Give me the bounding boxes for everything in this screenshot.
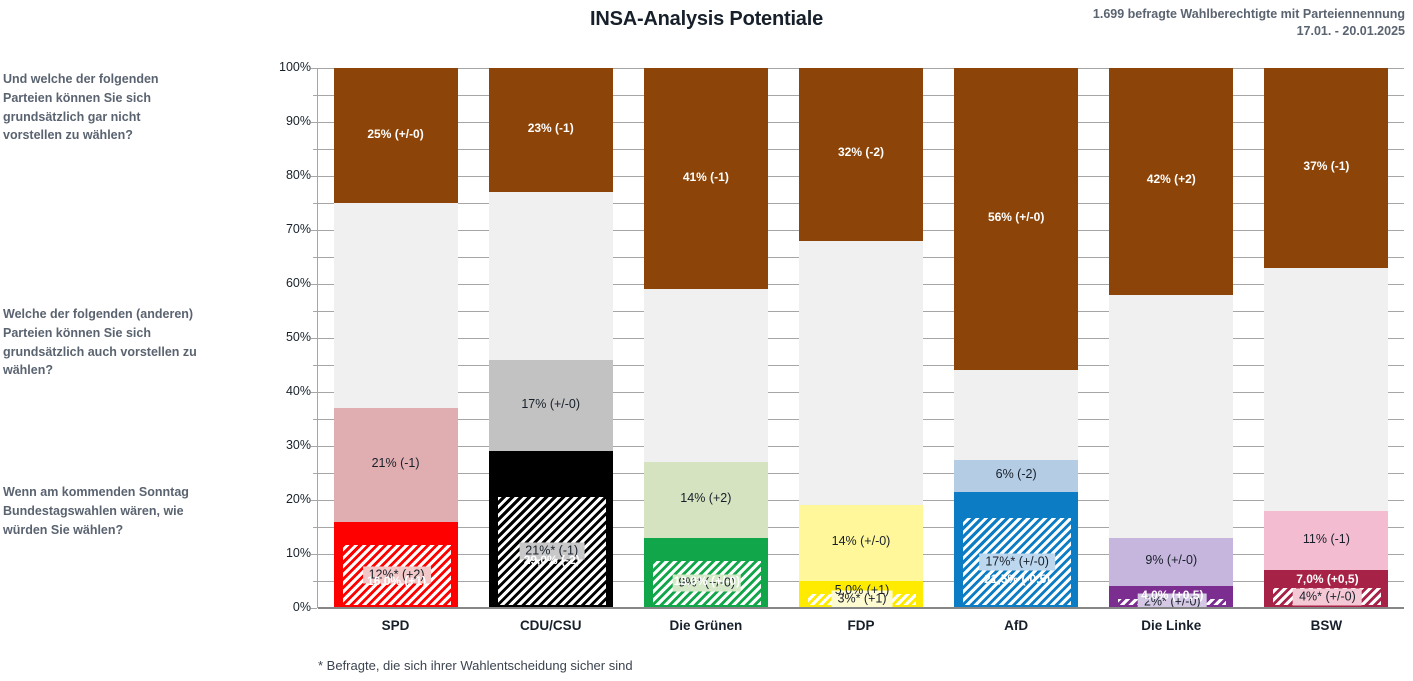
bar-segment-potential[interactable]: 21% (-1) xyxy=(334,408,458,521)
survey-meta: 1.699 befragte Wahlberechtigte mit Parte… xyxy=(1093,6,1405,40)
y-axis-tick-label: 30% xyxy=(265,438,311,452)
bar-segment-rest[interactable] xyxy=(1264,268,1388,511)
x-axis-line xyxy=(318,607,1404,609)
bar-subsegment-label: 4%* (+/-0) xyxy=(1293,588,1362,605)
y-axis-tick-label: 80% xyxy=(265,168,311,182)
bar-segment-base[interactable]: 4%* (+/-0)7,0% (+0,5) xyxy=(1264,570,1388,608)
y-axis-tickmark xyxy=(311,68,317,69)
y-axis-tickmark-minor xyxy=(313,311,317,312)
bar-group-die-gr-nen[interactable]: 9%* (+/-0)13,0% (+/-0)14% (+2)41% (-1) xyxy=(644,68,768,608)
y-axis-tick-label: 40% xyxy=(265,384,311,398)
bar-subsegment-sure-voters[interactable]: 9%* (+/-0) xyxy=(653,561,761,605)
bar-segment-label: 37% (-1) xyxy=(1264,159,1388,173)
x-axis-label-die-gr-nen: Die Grünen xyxy=(644,618,768,633)
y-axis-tick-label: 100% xyxy=(265,60,311,74)
bar-segment-base[interactable]: 17%* (+/-0)21,5% (-0,5) xyxy=(954,492,1078,608)
bar-subsegment-sure-voters[interactable]: 2%* (+/-0) xyxy=(1118,599,1226,605)
x-axis-label-fdp: FDP xyxy=(799,618,923,633)
y-axis-tickmark xyxy=(311,446,317,447)
y-axis-tick-label: 20% xyxy=(265,492,311,506)
y-axis-tickmark xyxy=(311,230,317,231)
bar-segment-label: 6% (-2) xyxy=(954,467,1078,481)
bar-subsegment-sure-voters[interactable]: 3%* (+1) xyxy=(808,594,916,605)
bar-segment-potential[interactable]: 6% (-2) xyxy=(954,460,1078,492)
bar-subsegment-sure-voters[interactable]: 4%* (+/-0) xyxy=(1273,588,1381,605)
y-axis-tickmark xyxy=(311,338,317,339)
bar-segment-label: 41% (-1) xyxy=(644,170,768,184)
bar-segment-exclusion[interactable]: 32% (-2) xyxy=(799,68,923,241)
bar-segment-potential[interactable]: 11% (-1) xyxy=(1264,511,1388,570)
bar-group-spd[interactable]: 12%* (+2)16,0% (+1)21% (-1)25% (+/-0) xyxy=(334,68,458,608)
bar-segment-rest[interactable] xyxy=(489,192,613,359)
bar-segment-rest[interactable] xyxy=(1109,295,1233,538)
bar-segment-label: 14% (+/-0) xyxy=(799,534,923,548)
y-axis-tickmark-minor xyxy=(313,527,317,528)
bar-segment-label: 56% (+/-0) xyxy=(954,210,1078,224)
bar-segment-label: 14% (+2) xyxy=(644,491,768,505)
y-axis-tick-label: 10% xyxy=(265,546,311,560)
y-axis-tickmark-minor xyxy=(313,473,317,474)
bar-segment-potential[interactable]: 17% (+/-0) xyxy=(489,360,613,452)
plot-area: 12%* (+2)16,0% (+1)21% (-1)25% (+/-0)21%… xyxy=(318,68,1404,608)
bar-segment-exclusion[interactable]: 23% (-1) xyxy=(489,68,613,192)
bar-segment-potential[interactable]: 14% (+2) xyxy=(644,462,768,538)
bar-segment-potential[interactable]: 14% (+/-0) xyxy=(799,505,923,581)
bar-subsegment-label: 21%* (-1) xyxy=(519,542,584,559)
y-axis-tickmark xyxy=(311,554,317,555)
bar-subsegment-label: 3%* (+1) xyxy=(832,591,893,608)
bar-segment-rest[interactable] xyxy=(799,241,923,506)
bar-segment-exclusion[interactable]: 41% (-1) xyxy=(644,68,768,289)
bar-subsegment-sure-voters[interactable]: 21%* (-1) xyxy=(498,497,606,605)
bar-subsegment-label: 12%* (+2) xyxy=(363,567,431,584)
bar-group-die-linke[interactable]: 2%* (+/-0)4,0% (+0,5)9% (+/-0)42% (+2) xyxy=(1109,68,1233,608)
bar-subsegment-label: 2%* (+/-0) xyxy=(1138,594,1207,609)
bar-subsegment-sure-voters[interactable]: 12%* (+2) xyxy=(343,545,451,605)
y-axis-tickmark xyxy=(311,122,317,123)
bar-segment-exclusion[interactable]: 37% (-1) xyxy=(1264,68,1388,268)
bar-segment-label: 21% (-1) xyxy=(334,456,458,470)
y-axis-tickmark-minor xyxy=(313,203,317,204)
y-axis-tick-label: 50% xyxy=(265,330,311,344)
bar-group-afd[interactable]: 17%* (+/-0)21,5% (-0,5)6% (-2)56% (+/-0) xyxy=(954,68,1078,608)
bar-segment-label: 17% (+/-0) xyxy=(489,397,613,411)
x-axis-label-spd: SPD xyxy=(334,618,458,633)
y-axis-tickmark-minor xyxy=(313,365,317,366)
y-axis-tickmark xyxy=(311,284,317,285)
bar-subsegment-label: 9%* (+/-0) xyxy=(673,575,742,592)
y-axis-tickmark-minor xyxy=(313,419,317,420)
bar-segment-rest[interactable] xyxy=(334,203,458,408)
bar-segment-potential[interactable]: 9% (+/-0) xyxy=(1109,538,1233,587)
bar-segment-label: 9% (+/-0) xyxy=(1109,553,1233,567)
survey-period: 17.01. - 20.01.2025 xyxy=(1093,23,1405,40)
bar-segment-exclusion[interactable]: 25% (+/-0) xyxy=(334,68,458,203)
bar-group-bsw[interactable]: 4%* (+/-0)7,0% (+0,5)11% (-1)37% (-1) xyxy=(1264,68,1388,608)
respondent-count: 1.699 befragte Wahlberechtigte mit Parte… xyxy=(1093,6,1405,23)
footnote: * Befragte, die sich ihrer Wahlentscheid… xyxy=(318,658,633,673)
bar-segment-rest[interactable] xyxy=(644,289,768,462)
y-axis-tickmark-minor xyxy=(313,95,317,96)
y-axis-tickmark xyxy=(311,176,317,177)
y-axis-tick-label: 90% xyxy=(265,114,311,128)
bar-segment-label: 32% (-2) xyxy=(799,145,923,159)
bar-segment-label: 11% (-1) xyxy=(1264,532,1388,546)
x-axis-label-cdu-csu: CDU/CSU xyxy=(489,618,613,633)
bar-segment-base[interactable]: 3%* (+1)5,0% (+1) xyxy=(799,581,923,608)
question-label-vote: Wenn am kommenden Sonntag Bundestagswahl… xyxy=(3,483,203,539)
bar-segment-base[interactable]: 9%* (+/-0)13,0% (+/-0) xyxy=(644,538,768,608)
y-axis-tickmark xyxy=(311,500,317,501)
x-axis-label-bsw: BSW xyxy=(1264,618,1388,633)
bar-segment-exclusion[interactable]: 56% (+/-0) xyxy=(954,68,1078,370)
bar-segment-exclusion[interactable]: 42% (+2) xyxy=(1109,68,1233,295)
y-axis-tickmark xyxy=(311,392,317,393)
y-axis-tickmark-minor xyxy=(313,581,317,582)
y-axis-tickmark-minor xyxy=(313,149,317,150)
bar-subsegment-sure-voters[interactable]: 17%* (+/-0) xyxy=(963,518,1071,605)
bar-group-fdp[interactable]: 3%* (+1)5,0% (+1)14% (+/-0)32% (-2) xyxy=(799,68,923,608)
question-label-exclusion: Und welche der folgenden Parteien können… xyxy=(3,70,203,145)
y-axis-tickmark-minor xyxy=(313,257,317,258)
x-axis-label-afd: AfD xyxy=(954,618,1078,633)
bar-segment-base[interactable]: 2%* (+/-0)4,0% (+0,5) xyxy=(1109,586,1233,608)
y-axis-tickmark xyxy=(311,608,317,609)
question-label-potential: Welche der folgenden (anderen) Parteien … xyxy=(3,305,203,380)
y-axis-tick-label: 0% xyxy=(265,600,311,614)
bar-segment-label: 23% (-1) xyxy=(489,121,613,135)
bar-segment-label: 42% (+2) xyxy=(1109,172,1233,186)
bar-segment-label: 25% (+/-0) xyxy=(334,127,458,141)
x-axis-label-die-linke: Die Linke xyxy=(1109,618,1233,633)
bar-subsegment-label: 17%* (+/-0) xyxy=(979,553,1055,570)
bar-group-cdu-csu[interactable]: 21%* (-1)29,0% (-2)17% (+/-0)23% (-1) xyxy=(489,68,613,608)
y-axis-tick-label: 70% xyxy=(265,222,311,236)
y-axis-tick-label: 60% xyxy=(265,276,311,290)
bar-segment-base[interactable]: 12%* (+2)16,0% (+1) xyxy=(334,522,458,608)
bar-segment-base[interactable]: 21%* (-1)29,0% (-2) xyxy=(489,451,613,608)
bar-segment-rest[interactable] xyxy=(954,370,1078,459)
bar-segment-label: 7,0% (+0,5) xyxy=(1265,572,1388,586)
